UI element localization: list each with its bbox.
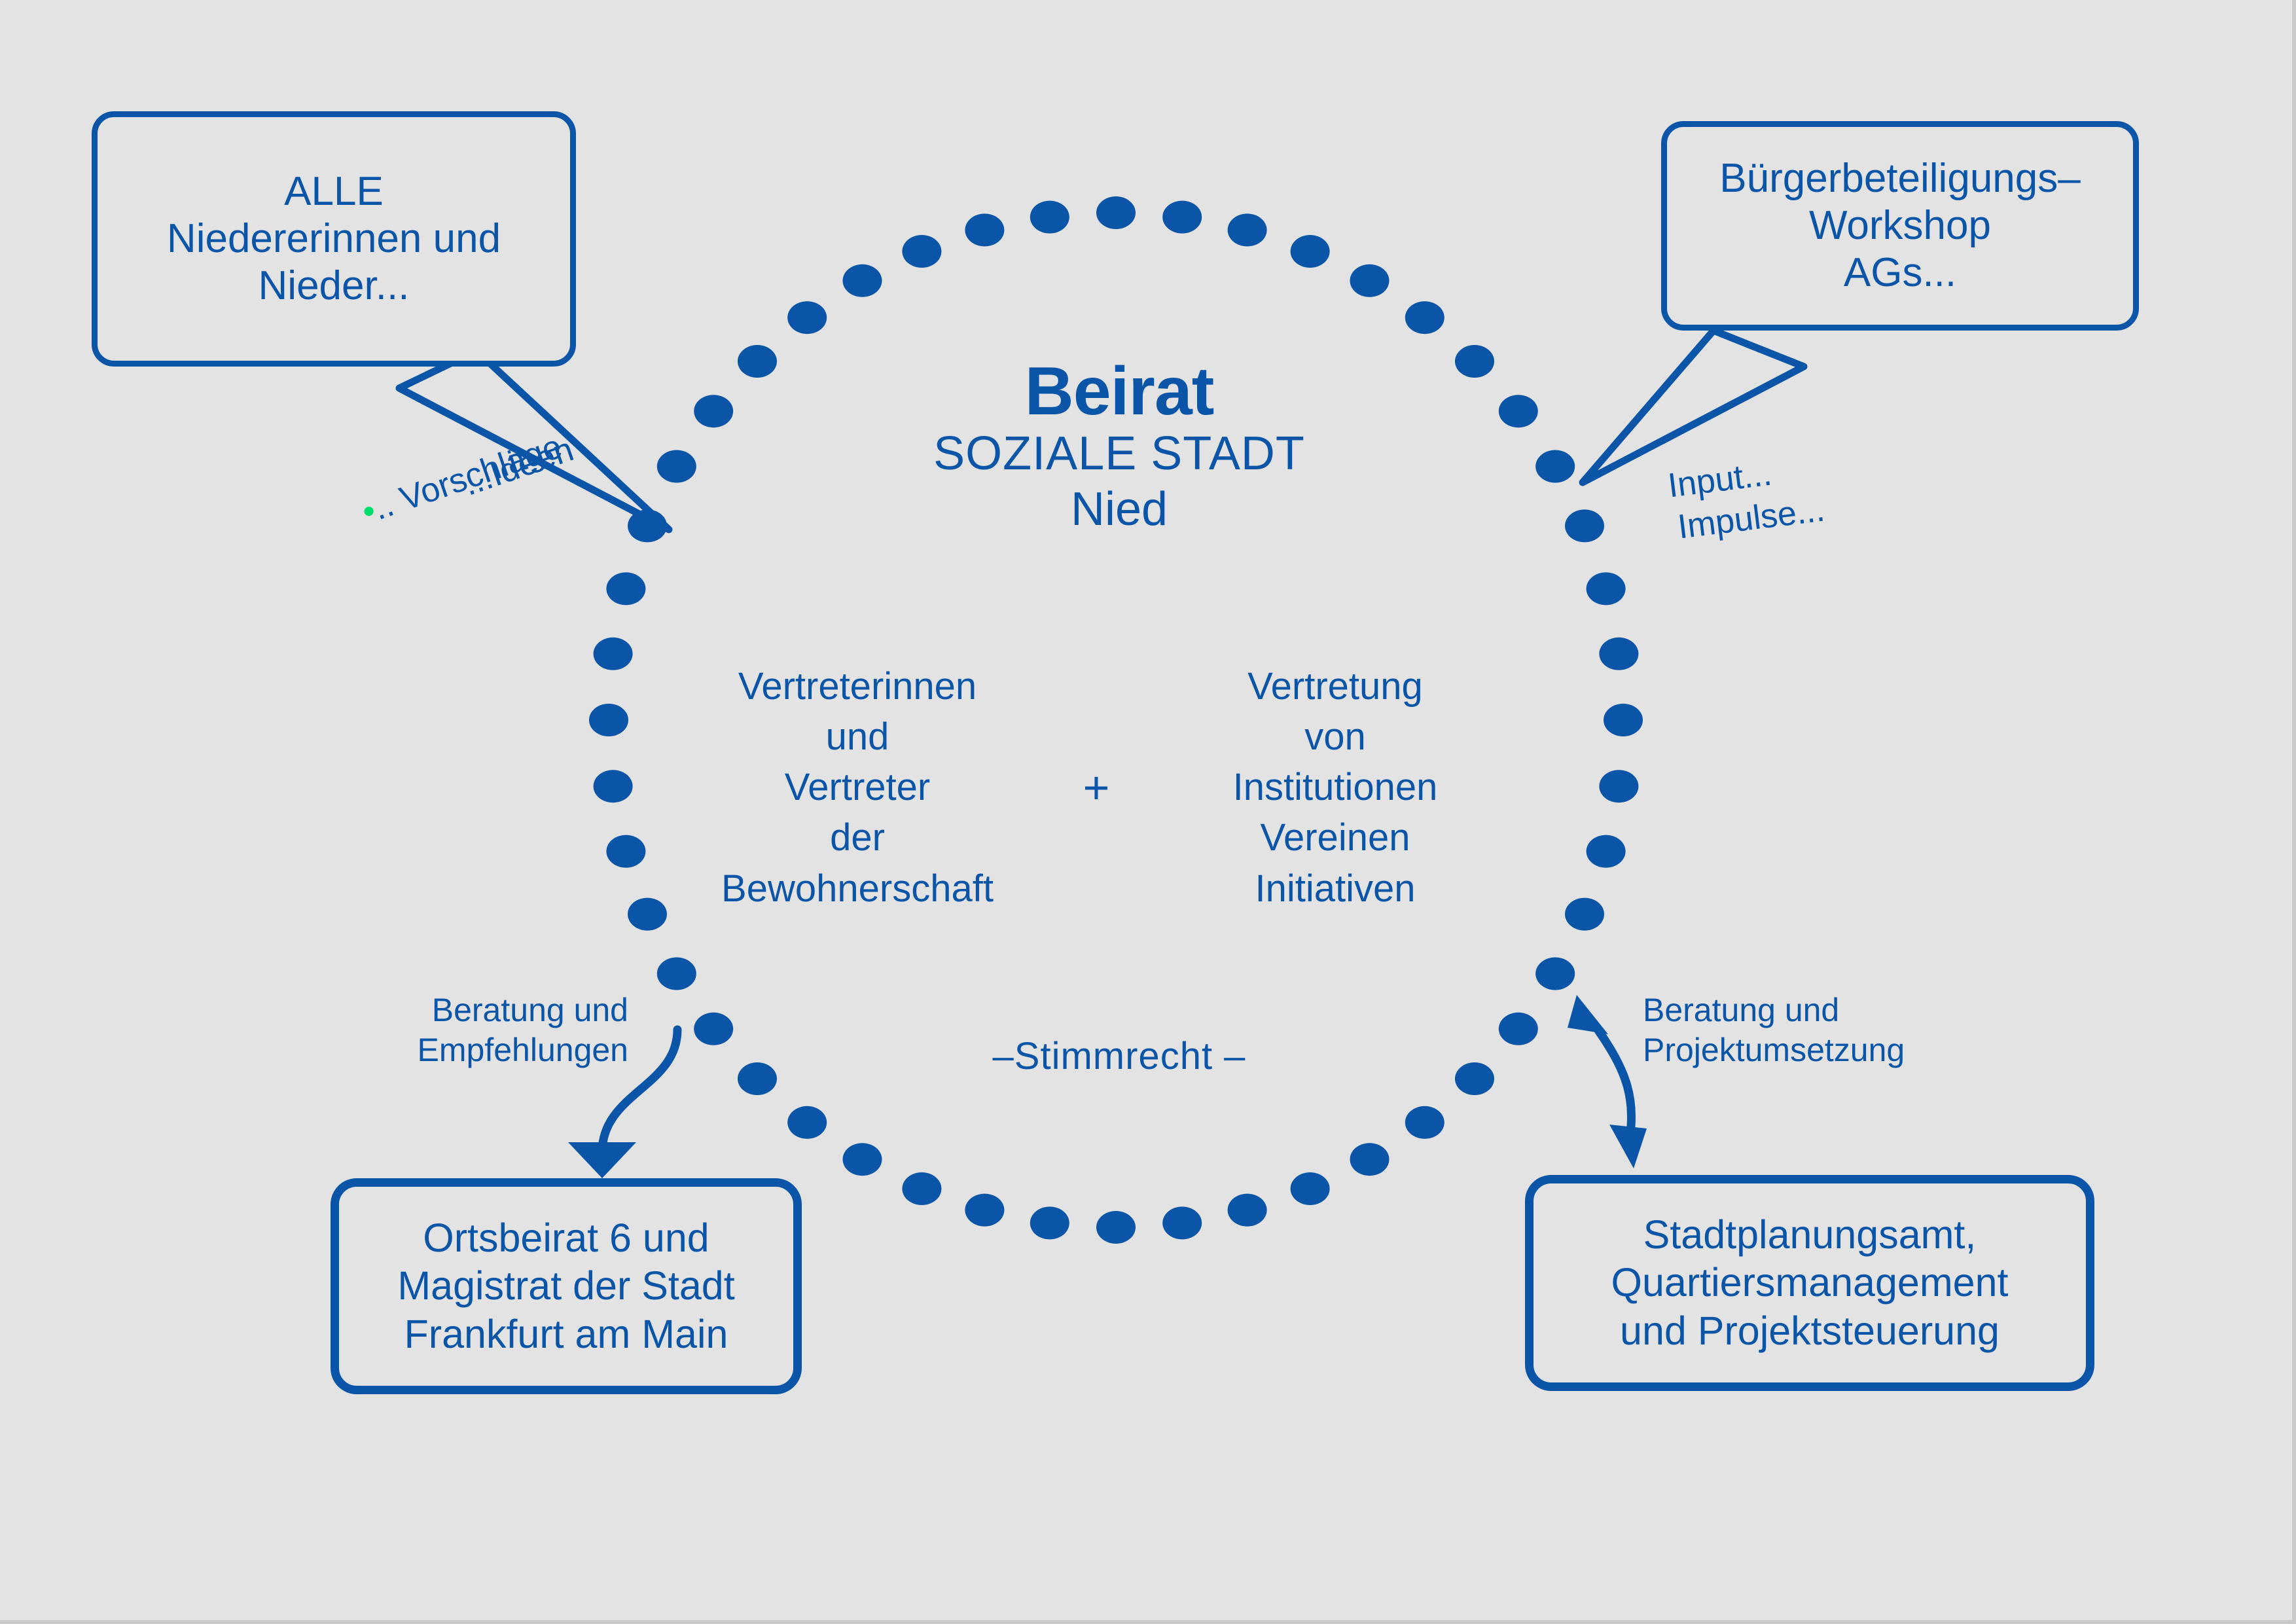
circle-dot (606, 835, 645, 868)
circle-dot (965, 213, 1004, 246)
circle-dot (1499, 1013, 1538, 1045)
circle-dot (694, 395, 733, 427)
diagram-canvas: ALLE Niedererinnen und Nieder... Bürgerb… (0, 0, 2296, 1624)
circle-dot (843, 264, 882, 297)
circle-dot (1565, 898, 1604, 931)
circle-dot (589, 704, 628, 736)
page-edge-right (2292, 0, 2296, 1624)
annotation-beratung-empfehlungen: Beratung und Empfehlungen (373, 990, 628, 1070)
box-ortsbeirat-text: Ortsbeirat 6 und Magistrat der Stadt Fra… (397, 1214, 734, 1358)
center-title: Beirat (772, 357, 1466, 426)
circle-dot (1291, 1172, 1330, 1205)
center-column-right: Vertretung von Institutionen Vereinen In… (1172, 661, 1499, 914)
circle-dot (965, 1194, 1004, 1227)
annotation-beratung-projektumsetzung: Beratung und Projektumsetzung (1643, 990, 1957, 1070)
bubble-tail-right (1583, 331, 1804, 482)
circle-dot (1096, 1211, 1136, 1244)
stimmrecht-note: –Stimmrecht – (772, 1034, 1466, 1078)
circle-dot (738, 345, 777, 378)
circle-dot (902, 235, 941, 268)
circle-dot (1535, 958, 1575, 990)
circle-dot (1587, 835, 1626, 868)
center-columns: Vertreterinnen und Vertreter der Bewohne… (694, 661, 1499, 914)
circle-dot (1228, 213, 1267, 246)
arrow-right-head-up (1568, 995, 1608, 1034)
arrow-right-curve (1592, 1021, 1631, 1149)
arrow-left-head (568, 1142, 636, 1178)
circle-dot (1587, 572, 1626, 605)
center-heading-group: Beirat SOZIALE STADT Nied (772, 357, 1466, 537)
plus-symbol: + (1067, 761, 1126, 814)
box-ortsbeirat[interactable]: Ortsbeirat 6 und Magistrat der Stadt Fra… (331, 1178, 802, 1394)
center-subtitle: SOZIALE STADT (772, 426, 1466, 482)
circle-dot (1228, 1194, 1267, 1227)
circle-dot (787, 301, 827, 334)
circle-dot (1350, 264, 1390, 297)
circle-dot (1096, 196, 1136, 229)
circle-dot (1030, 201, 1069, 234)
circle-dot (1535, 450, 1575, 483)
circle-dot (657, 958, 696, 990)
circle-dot (1565, 509, 1604, 542)
circle-dot (1599, 638, 1638, 670)
circle-dot (1030, 1206, 1069, 1239)
circle-dot (1291, 235, 1330, 268)
speech-bubble-left-text: ALLE Niedererinnen und Nieder... (167, 168, 501, 310)
box-stadtplanung[interactable]: Stadtplanungsamt, Quartiersmanagement un… (1525, 1175, 2094, 1391)
circle-dot (628, 898, 667, 931)
circle-dot (843, 1143, 882, 1176)
speech-bubble-right-text: Bürgerbeteiligungs– Workshop AGs... (1719, 155, 2081, 297)
circle-dot (594, 770, 633, 803)
circle-dot (738, 1062, 777, 1095)
arrow-right-head-down (1609, 1125, 1647, 1168)
speech-bubble-left[interactable]: ALLE Niedererinnen und Nieder... (92, 111, 576, 367)
circle-dot (1350, 1143, 1390, 1176)
speech-bubble-right[interactable]: Bürgerbeteiligungs– Workshop AGs... (1661, 121, 2139, 331)
center-subtitle-secondary: Nied (772, 482, 1466, 537)
circle-dot (1162, 1206, 1202, 1239)
circle-dot (1162, 201, 1202, 234)
page-edge-bottom (0, 1620, 2296, 1624)
circle-dot (1405, 1106, 1444, 1139)
circle-dot (1599, 770, 1638, 803)
box-stadtplanung-text: Stadtplanungsamt, Quartiersmanagement un… (1611, 1211, 2009, 1355)
circle-dot (694, 1013, 733, 1045)
circle-dot (606, 572, 645, 605)
circle-dot (594, 638, 633, 670)
circle-dot (787, 1106, 827, 1139)
circle-dot (1604, 704, 1643, 736)
circle-dot (1499, 395, 1538, 427)
circle-dot (628, 509, 667, 542)
center-column-left: Vertreterinnen und Vertreter der Bewohne… (694, 661, 1021, 914)
circle-dot (902, 1172, 941, 1205)
circle-dot (657, 450, 696, 483)
circle-dot (1405, 301, 1444, 334)
